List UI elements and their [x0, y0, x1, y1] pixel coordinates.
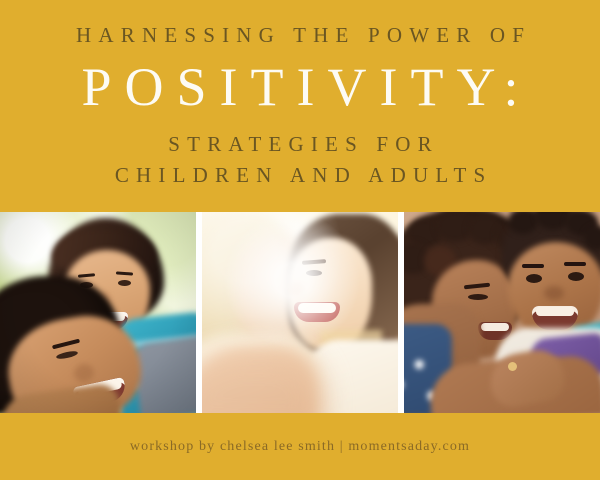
footer-credit: workshop by chelsea lee smith | momentsa… — [130, 439, 470, 455]
photo3-baby-brow-left — [522, 264, 544, 268]
photo3-baby-eye-right — [568, 272, 584, 281]
photo-father-and-son — [0, 212, 196, 413]
photo3-baby-brow-right — [564, 262, 586, 266]
photo3-baby-eye-left — [526, 274, 542, 283]
poster: HARNESSING THE POWER OF POSITIVITY: STRA… — [0, 0, 600, 480]
title-subline-1: STRATEGIES FOR — [0, 118, 600, 160]
photo3-mother-eye — [468, 294, 488, 300]
title-block: HARNESSING THE POWER OF POSITIVITY: STRA… — [0, 0, 600, 212]
photo3-baby-nose — [544, 286, 564, 300]
photo3-baby-teeth — [536, 307, 574, 316]
title-hero: POSITIVITY: — [0, 48, 600, 118]
photo3-ring — [508, 362, 517, 371]
title-kicker: HARNESSING THE POWER OF — [0, 0, 600, 48]
photo-strip — [0, 212, 600, 413]
footer-bar: workshop by chelsea lee smith | momentsa… — [0, 413, 600, 480]
photo2-sun-glow — [202, 212, 398, 413]
photo-mother-and-baby — [404, 212, 600, 413]
photo3-mother-teeth — [481, 323, 509, 331]
title-subline-2: CHILDREN AND ADULTS — [0, 160, 600, 191]
photo1-vignette — [0, 212, 196, 413]
photo-mother-and-girl — [202, 212, 398, 413]
